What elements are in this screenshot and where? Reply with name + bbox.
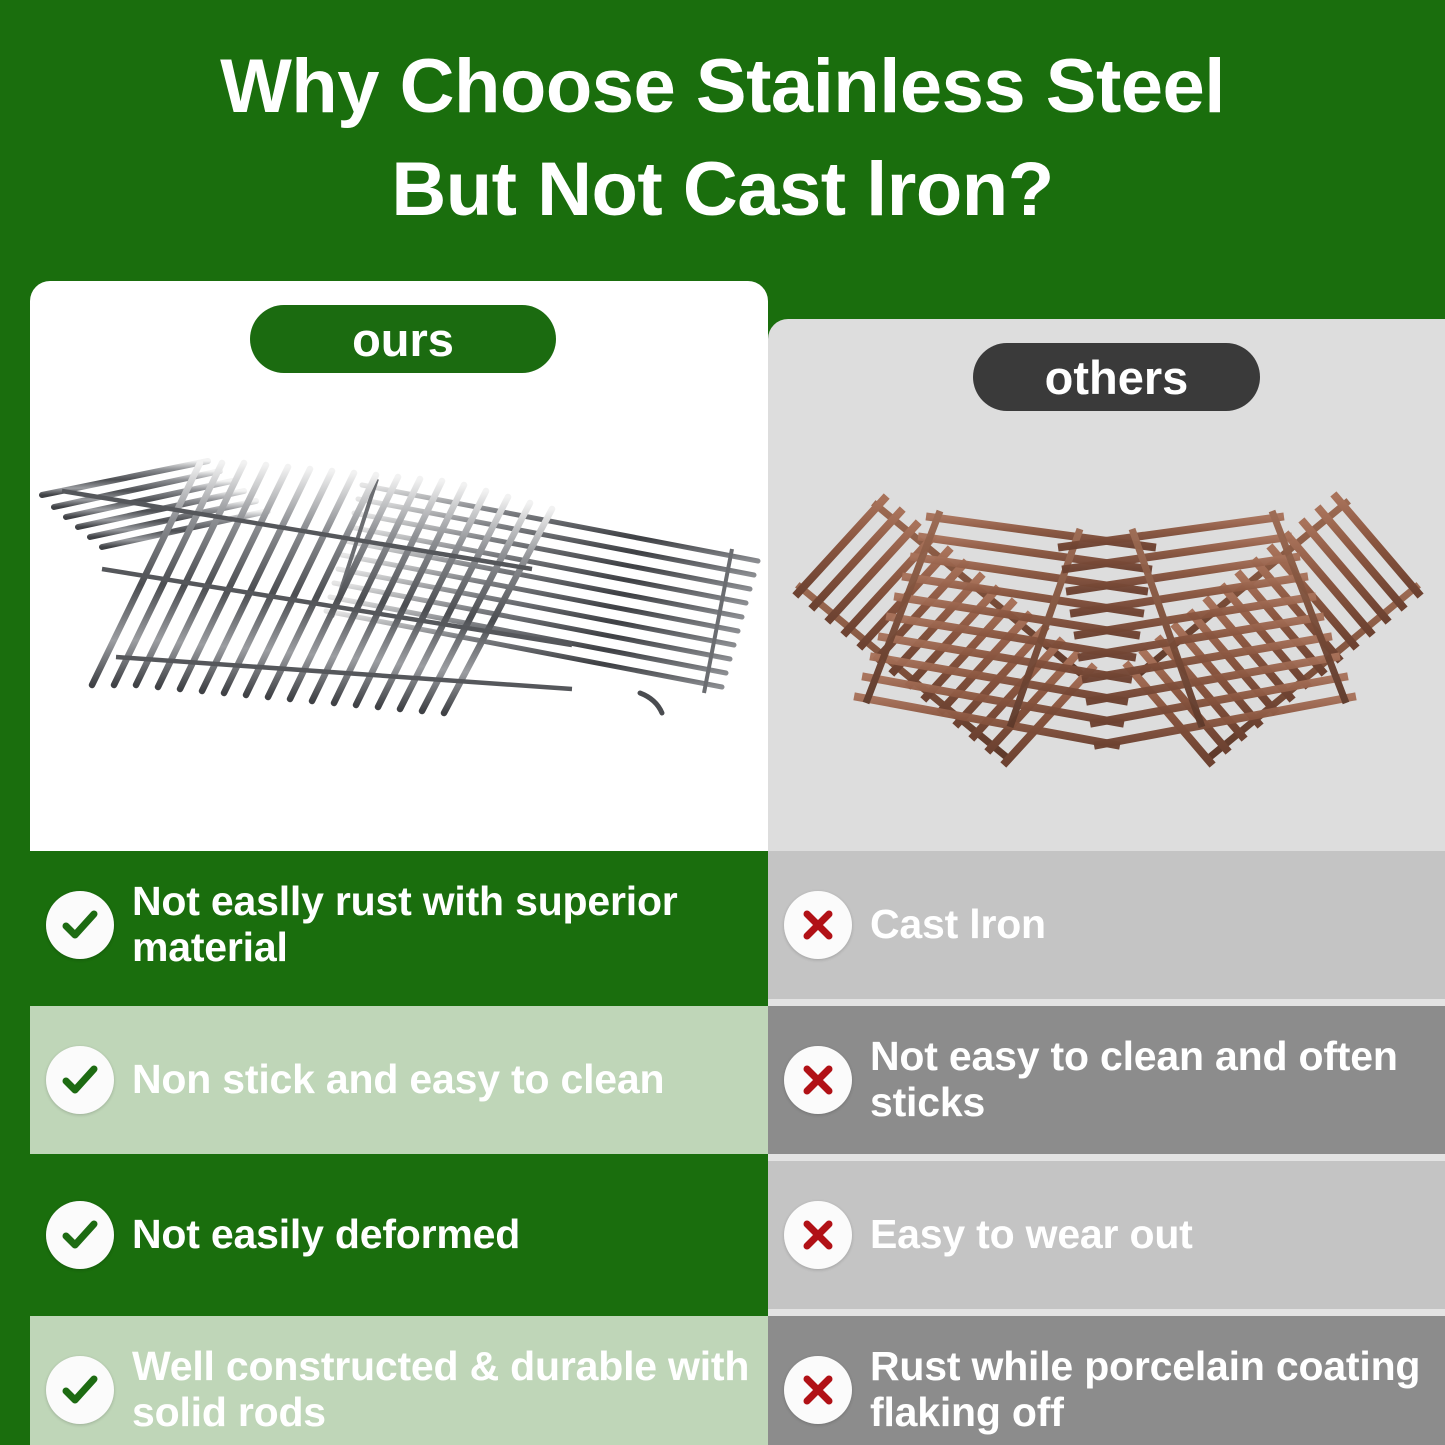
ours-feature-label-3: Not easily deformed: [132, 1212, 520, 1258]
others-feature-list: Cast lron Not easy to clean and often st…: [768, 851, 1445, 1445]
check-icon: [46, 1356, 114, 1424]
others-feature-row-3: Easy to wear out: [768, 1161, 1445, 1309]
cross-icon: [784, 1046, 852, 1114]
row-divider: [30, 1309, 768, 1316]
stainless-steel-grates-image: [32, 449, 766, 739]
cross-icon: [784, 1201, 852, 1269]
check-icon: [46, 1201, 114, 1269]
cross-icon: [784, 891, 852, 959]
others-feature-row-4: Rust while porcelain coating flaking off: [768, 1316, 1445, 1445]
row-divider: [30, 999, 768, 1006]
others-feature-label-3: Easy to wear out: [870, 1212, 1193, 1258]
check-icon: [46, 891, 114, 959]
others-feature-label-1: Cast lron: [870, 902, 1046, 948]
ours-badge-label: ours: [352, 312, 454, 367]
others-image-panel: others: [768, 319, 1445, 851]
ours-feature-label-1: Not easlly rust with superior material: [132, 879, 754, 971]
title-line-2: But Not Cast lron?: [0, 139, 1445, 242]
title-line-1: Why Choose Stainless Steel: [0, 36, 1445, 139]
ours-feature-row-4: Well constructed & durable with solid ro…: [30, 1316, 768, 1445]
cast-iron-grates-image: [780, 477, 1430, 777]
ours-image-panel: ours: [30, 281, 768, 851]
others-badge-label: others: [1045, 350, 1189, 405]
cross-icon: [784, 1356, 852, 1424]
row-divider: [768, 999, 1445, 1006]
ours-feature-row-1: Not easlly rust with superior material: [30, 851, 768, 999]
page-title: Why Choose Stainless Steel But Not Cast …: [0, 36, 1445, 241]
others-feature-label-4: Rust while porcelain coating flaking off: [870, 1344, 1431, 1436]
row-divider: [768, 1154, 1445, 1161]
others-badge: others: [973, 343, 1260, 411]
ours-feature-label-4: Well constructed & durable with solid ro…: [132, 1344, 754, 1436]
check-icon: [46, 1046, 114, 1114]
row-divider: [30, 1154, 768, 1161]
ours-feature-row-3: Not easily deformed: [30, 1161, 768, 1309]
others-feature-label-2: Not easy to clean and often sticks: [870, 1034, 1431, 1126]
others-feature-row-2: Not easy to clean and often sticks: [768, 1006, 1445, 1154]
ours-badge: ours: [250, 305, 556, 373]
ours-feature-label-2: Non stick and easy to clean: [132, 1057, 664, 1103]
ours-feature-list: Not easlly rust with superior material N…: [30, 851, 768, 1445]
others-feature-row-1: Cast lron: [768, 851, 1445, 999]
row-divider: [768, 1309, 1445, 1316]
ours-feature-row-2: Non stick and easy to clean: [30, 1006, 768, 1154]
